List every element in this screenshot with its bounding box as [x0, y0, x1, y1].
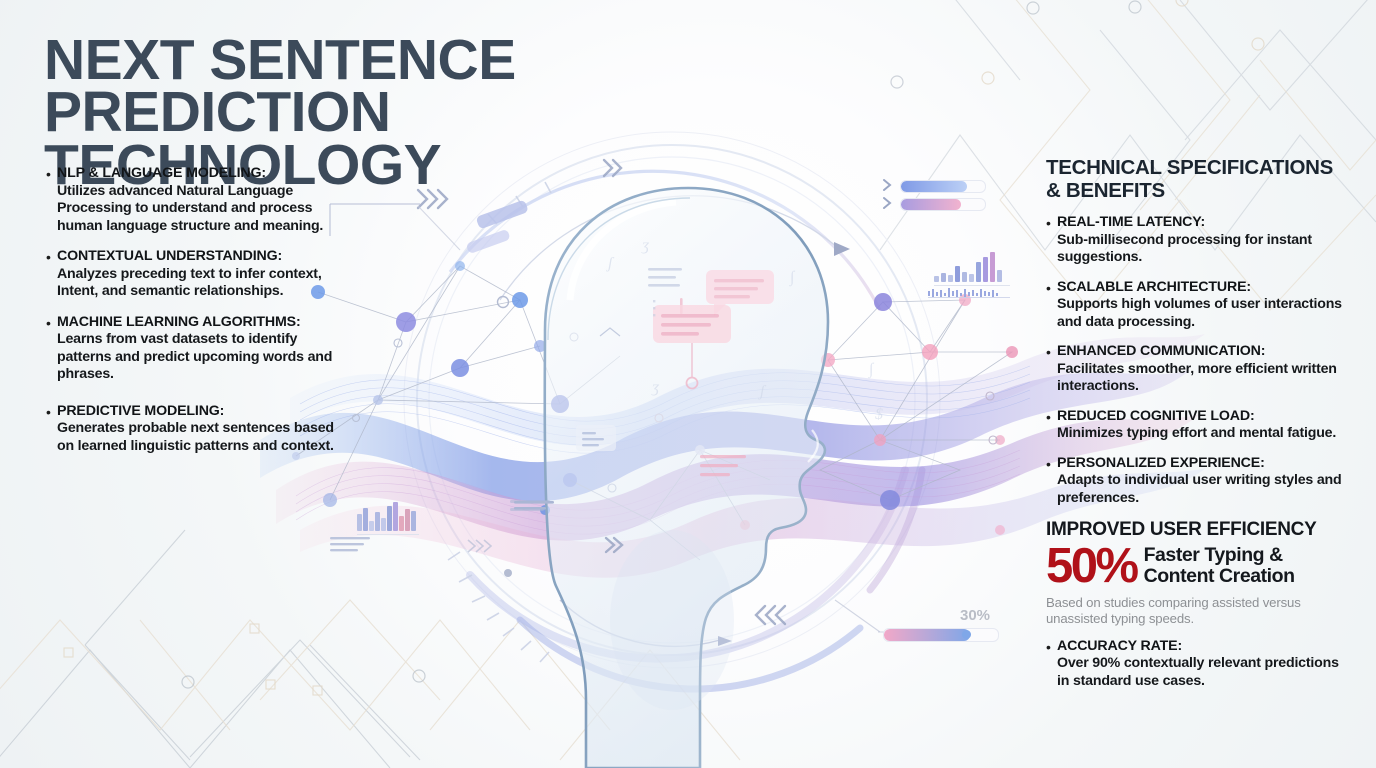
bullet-marker: • — [1046, 638, 1051, 656]
bar — [997, 270, 1002, 282]
bar — [381, 518, 386, 531]
infographic-canvas: ʃ ʒ ∫ ʃ ʒ ∫ $ NEXT SENTENCE — [0, 0, 1376, 768]
bar — [399, 516, 404, 531]
list-item: • ACCURACY RATE: Over 90% contextually r… — [1046, 638, 1346, 691]
left-feature-list: • NLP & LANGUAGE MODELING: Utilizes adva… — [46, 165, 336, 468]
bar — [941, 273, 946, 282]
list-item: • MACHINE LEARNING ALGORITHMS: Learns fr… — [46, 314, 336, 384]
chevron-right-icon — [881, 196, 895, 210]
list-item-heading: SCALABLE ARCHITECTURE: — [1057, 279, 1346, 297]
hud-progress-track-1 — [900, 180, 986, 193]
bar-chart-right — [934, 252, 1010, 286]
list-item-heading: ACCURACY RATE: — [1057, 638, 1346, 656]
bar — [969, 274, 974, 282]
list-item-heading: PERSONALIZED EXPERIENCE: — [1057, 455, 1346, 473]
list-item-body: Analyzes preceding text to infer context… — [57, 266, 336, 301]
list-item-heading: NLP & LANGUAGE MODELING: — [57, 165, 336, 183]
list-item: • NLP & LANGUAGE MODELING: Utilizes adva… — [46, 165, 336, 235]
list-item-heading: MACHINE LEARNING ALGORITHMS: — [57, 314, 336, 332]
section-title: TECHNICAL SPECIFICATIONS & BENEFITS — [1046, 156, 1346, 202]
progress-bar-track[interactable] — [883, 628, 999, 642]
svg-text:$: $ — [875, 406, 883, 423]
list-item-body: Sub-millisecond processing for instant s… — [1057, 232, 1346, 267]
bar-chart-left — [357, 503, 419, 535]
stat-number: 50% — [1046, 543, 1137, 590]
bar — [976, 262, 981, 282]
list-item-body: Learns from vast datasets to identify pa… — [57, 331, 336, 384]
svg-text:ʒ: ʒ — [651, 379, 660, 396]
bullet-marker: • — [1046, 214, 1051, 232]
waveform-strip — [928, 288, 1010, 298]
efficiency-stat-block: IMPROVED USER EFFICIENCY 50% Faster Typi… — [1046, 519, 1346, 627]
bullet-marker: • — [1046, 279, 1051, 297]
bar — [369, 521, 374, 531]
list-item-body: Over 90% contextually relevant predictio… — [1057, 655, 1346, 690]
svg-text:ʃ: ʃ — [606, 255, 615, 272]
bar-chart-baseline — [357, 534, 419, 535]
bullet-marker: • — [46, 248, 51, 266]
bar — [948, 275, 953, 282]
list-item-heading: CONTEXTUAL UNDERSTANDING: — [57, 248, 336, 266]
stat-title: IMPROVED USER EFFICIENCY — [1046, 519, 1346, 541]
stat-label-line-2: Content Creation — [1144, 566, 1295, 587]
bar — [983, 257, 988, 282]
list-item-heading: ENHANCED COMMUNICATION: — [1057, 343, 1346, 361]
svg-text:ʃ: ʃ — [758, 383, 767, 400]
list-item: • PERSONALIZED EXPERIENCE: Adapts to ind… — [1046, 455, 1346, 508]
bar — [393, 502, 398, 531]
bullet-marker: • — [46, 165, 51, 183]
list-item: • REDUCED COGNITIVE LOAD: Minimizes typi… — [1046, 408, 1346, 443]
progress-bar-knob[interactable] — [962, 630, 971, 639]
list-item-body: Generates probable next sentences based … — [57, 420, 336, 455]
list-item: • REAL-TIME LATENCY: Sub-millisecond pro… — [1046, 214, 1346, 267]
progress-percent-label: 30% — [960, 607, 990, 624]
list-item: • SCALABLE ARCHITECTURE: Supports high v… — [1046, 279, 1346, 332]
bar — [962, 272, 967, 282]
list-item-heading: REDUCED COGNITIVE LOAD: — [1057, 408, 1346, 426]
text-lines-icon — [514, 500, 558, 514]
list-item-body: Supports high volumes of user interactio… — [1057, 296, 1346, 331]
chevron-right-icon — [881, 178, 895, 192]
svg-text:∫: ∫ — [868, 361, 875, 379]
bullet-marker: • — [1046, 343, 1051, 361]
bullet-marker: • — [46, 314, 51, 332]
bar — [357, 514, 362, 531]
hud-progress-fill-1 — [901, 181, 967, 192]
list-item-body: Facilitates smoother, more efficient wri… — [1057, 361, 1346, 396]
bar-chart-baseline — [934, 285, 1010, 286]
bar — [990, 252, 995, 282]
stat-footnote: Based on studies comparing assisted vers… — [1046, 595, 1346, 627]
list-item: • PREDICTIVE MODELING: Generates probabl… — [46, 403, 336, 456]
bar — [387, 506, 392, 531]
text-lines-icon — [330, 536, 374, 554]
bar — [934, 276, 939, 282]
hud-progress-fill-2 — [901, 199, 961, 210]
bar — [405, 509, 410, 531]
stat-label-line-1: Faster Typing & — [1144, 545, 1295, 566]
bar — [363, 508, 368, 531]
list-item-body: Utilizes advanced Natural Language Proce… — [57, 183, 336, 236]
list-item-body: Adapts to individual user writing styles… — [1057, 472, 1346, 507]
bullet-marker: • — [46, 403, 51, 421]
stat-row: 50% Faster Typing & Content Creation — [1046, 543, 1346, 590]
list-item: • ENHANCED COMMUNICATION: Facilitates sm… — [1046, 343, 1346, 396]
bar — [375, 512, 380, 531]
list-item: • CONTEXTUAL UNDERSTANDING: Analyzes pre… — [46, 248, 336, 301]
bullet-marker: • — [1046, 455, 1051, 473]
list-item-heading: PREDICTIVE MODELING: — [57, 403, 336, 421]
progress-bar-fill — [884, 629, 970, 641]
page-title-line-1: NEXT SENTENCE PREDICTION — [44, 34, 804, 139]
bullet-marker: • — [1046, 408, 1051, 426]
list-item-body: Minimizes typing effort and mental fatig… — [1057, 425, 1346, 443]
right-benefits-panel: TECHNICAL SPECIFICATIONS & BENEFITS • RE… — [1046, 156, 1346, 702]
stat-label: Faster Typing & Content Creation — [1144, 545, 1295, 587]
hud-progress-track-2 — [900, 198, 986, 211]
svg-text:ʒ: ʒ — [641, 237, 650, 254]
bar — [955, 266, 960, 282]
list-item-heading: REAL-TIME LATENCY: — [1057, 214, 1346, 232]
bar — [411, 511, 416, 531]
svg-text:∫: ∫ — [789, 269, 796, 287]
